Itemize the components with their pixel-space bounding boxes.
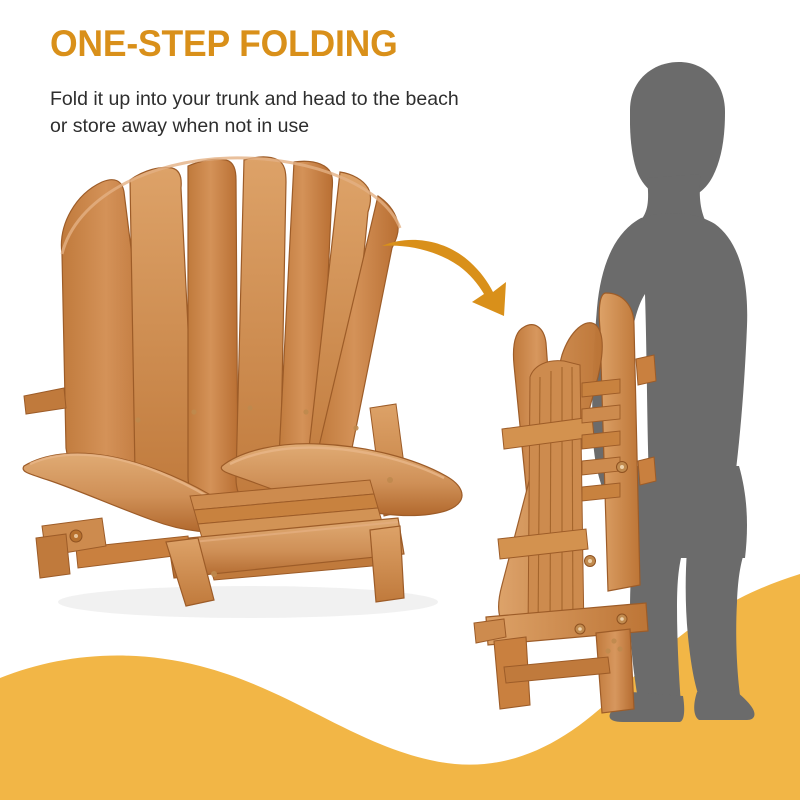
folded-back-slats xyxy=(528,361,584,637)
subtitle-text: Fold it up into your trunk and head to t… xyxy=(50,86,520,140)
subtitle-line-2: or store away when not in use xyxy=(50,113,520,140)
product-image-chair-open xyxy=(18,150,468,620)
product-feature-banner: ONE-STEP FOLDING Fold it up into your tr… xyxy=(0,0,800,800)
page-title: ONE-STEP FOLDING xyxy=(50,22,398,66)
subtitle-line-1: Fold it up into your trunk and head to t… xyxy=(50,86,520,113)
curved-transform-arrow xyxy=(380,230,520,320)
product-image-chair-folded xyxy=(468,285,683,725)
